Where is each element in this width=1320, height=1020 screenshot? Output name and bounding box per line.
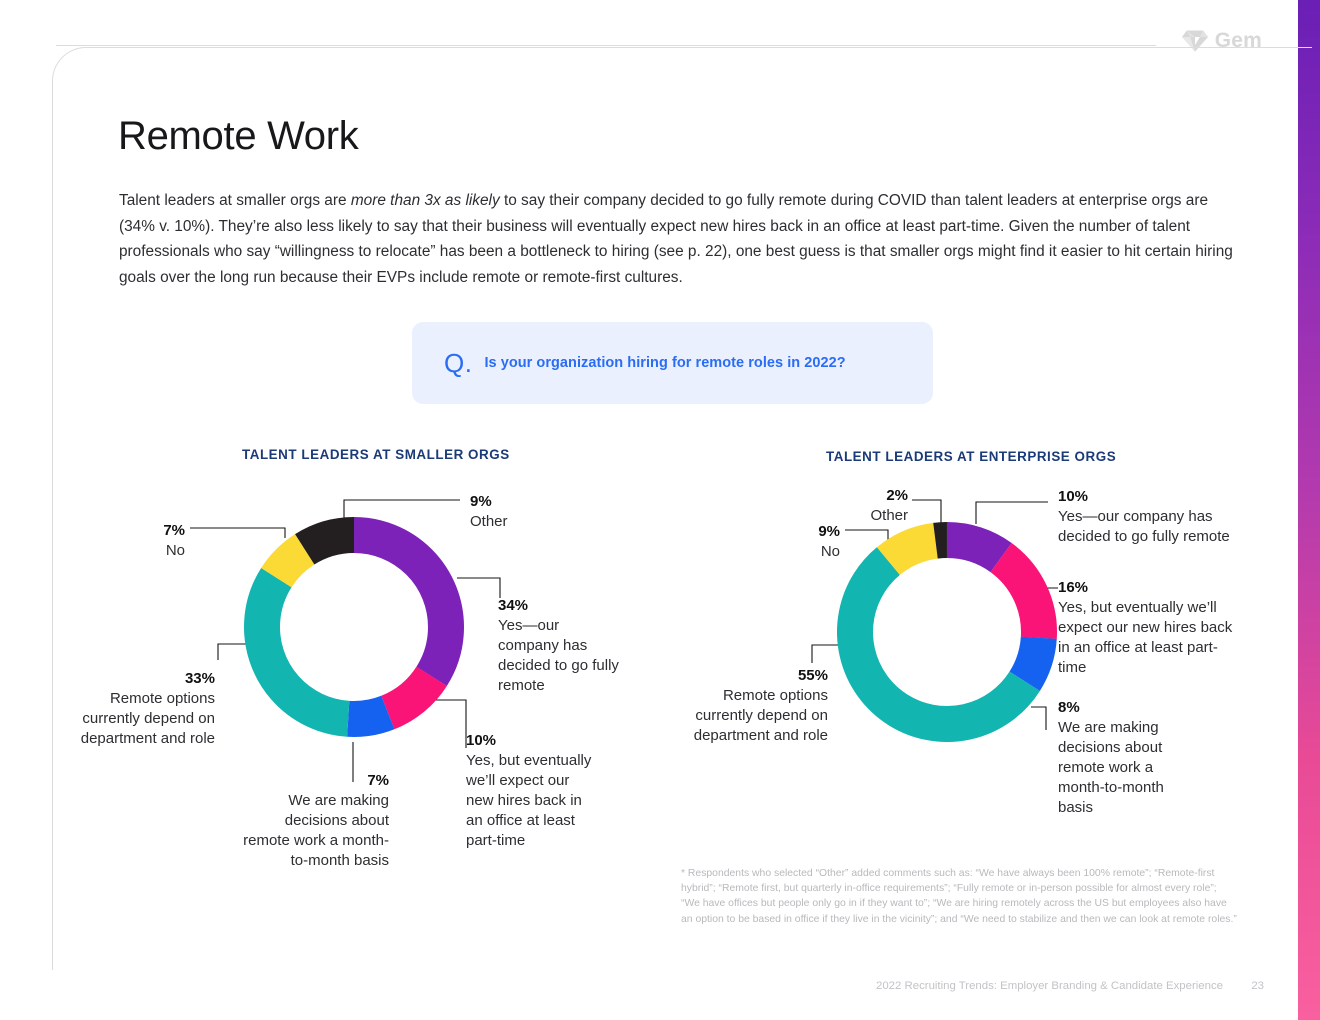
- right-callout-no: 9% No: [718, 522, 840, 562]
- left-callout-other-text: Other: [470, 513, 508, 530]
- right-callout-other-text: Other: [870, 507, 908, 524]
- footer-page-number: 23: [1251, 980, 1264, 992]
- slide-page: Gem Remote Work Talent leaders at smalle…: [0, 0, 1320, 1020]
- left-callout-fully-remote-pct: 34%: [498, 596, 623, 616]
- left-callout-depends-text: Remote options currently depend on depar…: [81, 690, 215, 747]
- intro-paragraph: Talent leaders at smaller orgs are more …: [119, 188, 1235, 290]
- right-callout-no-pct: 9%: [718, 522, 840, 542]
- intro-emphasis: more than 3x as likely: [351, 192, 500, 209]
- right-callout-part-time-text: Yes, but eventually we’ll expect our new…: [1058, 599, 1232, 676]
- left-callout-other: 9% Other: [470, 492, 620, 532]
- right-callout-month-to-month-pct: 8%: [1058, 698, 1190, 718]
- right-callout-part-time-pct: 16%: [1058, 578, 1240, 598]
- left-callout-no-text: No: [166, 542, 185, 559]
- right-callout-month-to-month-text: We are making decisions about remote wor…: [1058, 719, 1164, 816]
- question-marker: Q.: [444, 350, 472, 376]
- left-callout-depends: 33% Remote options currently depend on d…: [62, 669, 215, 749]
- right-callout-other-pct: 2%: [790, 486, 908, 506]
- left-callout-fully-remote-text: Yes—our company has decided to go fully …: [498, 617, 619, 694]
- right-donut-chart: [836, 521, 1058, 743]
- right-callout-depends-pct: 55%: [676, 666, 828, 686]
- footnote: * Respondents who selected “Other” added…: [681, 866, 1237, 927]
- right-callout-depends-text: Remote options currently depend on depar…: [694, 687, 828, 744]
- left-callout-depends-pct: 33%: [62, 669, 215, 689]
- left-callout-no-pct: 7%: [60, 521, 185, 541]
- right-callout-no-text: No: [821, 543, 840, 560]
- gem-logo: Gem: [1182, 28, 1262, 54]
- right-callout-depends: 55% Remote options currently depend on d…: [676, 666, 828, 746]
- left-chart-title: TALENT LEADERS AT SMALLER ORGS: [242, 447, 510, 462]
- left-callout-part-time-text: Yes, but eventually we’ll expect our new…: [466, 752, 591, 849]
- footer-title: 2022 Recruiting Trends: Employer Brandin…: [876, 980, 1223, 992]
- right-callout-fully-remote-text: Yes—our company has decided to go fully …: [1058, 508, 1230, 545]
- right-callout-fully-remote: 10% Yes—our company has decided to go fu…: [1058, 487, 1240, 547]
- left-callout-no: 7% No: [60, 521, 185, 561]
- left-callout-part-time-pct: 10%: [466, 731, 596, 751]
- left-callout-part-time: 10% Yes, but eventually we’ll expect our…: [466, 731, 596, 851]
- right-callout-other: 2% Other: [790, 486, 908, 526]
- brand-gradient-bar: [1298, 0, 1320, 1020]
- header-divider: [56, 45, 1156, 46]
- left-donut-chart: [243, 516, 465, 738]
- intro-part-1: Talent leaders at smaller orgs are: [119, 192, 351, 209]
- page-title: Remote Work: [118, 114, 358, 159]
- question-banner: Q. Is your organization hiring for remot…: [412, 322, 933, 404]
- left-callout-other-pct: 9%: [470, 492, 620, 512]
- right-chart-title: TALENT LEADERS AT ENTERPRISE ORGS: [826, 449, 1116, 464]
- right-callout-part-time: 16% Yes, but eventually we’ll expect our…: [1058, 578, 1240, 678]
- left-callout-month-to-month-text: We are making decisions about remote wor…: [243, 792, 389, 869]
- question-text: Is your organization hiring for remote r…: [484, 355, 845, 371]
- right-callout-fully-remote-pct: 10%: [1058, 487, 1240, 507]
- right-callout-month-to-month: 8% We are making decisions about remote …: [1058, 698, 1190, 818]
- gem-logo-text: Gem: [1215, 28, 1262, 54]
- left-callout-month-to-month: 7% We are making decisions about remote …: [234, 771, 389, 871]
- gem-diamond-icon: [1182, 28, 1208, 54]
- left-callout-month-to-month-pct: 7%: [234, 771, 389, 791]
- left-callout-fully-remote: 34% Yes—our company has decided to go fu…: [498, 596, 623, 696]
